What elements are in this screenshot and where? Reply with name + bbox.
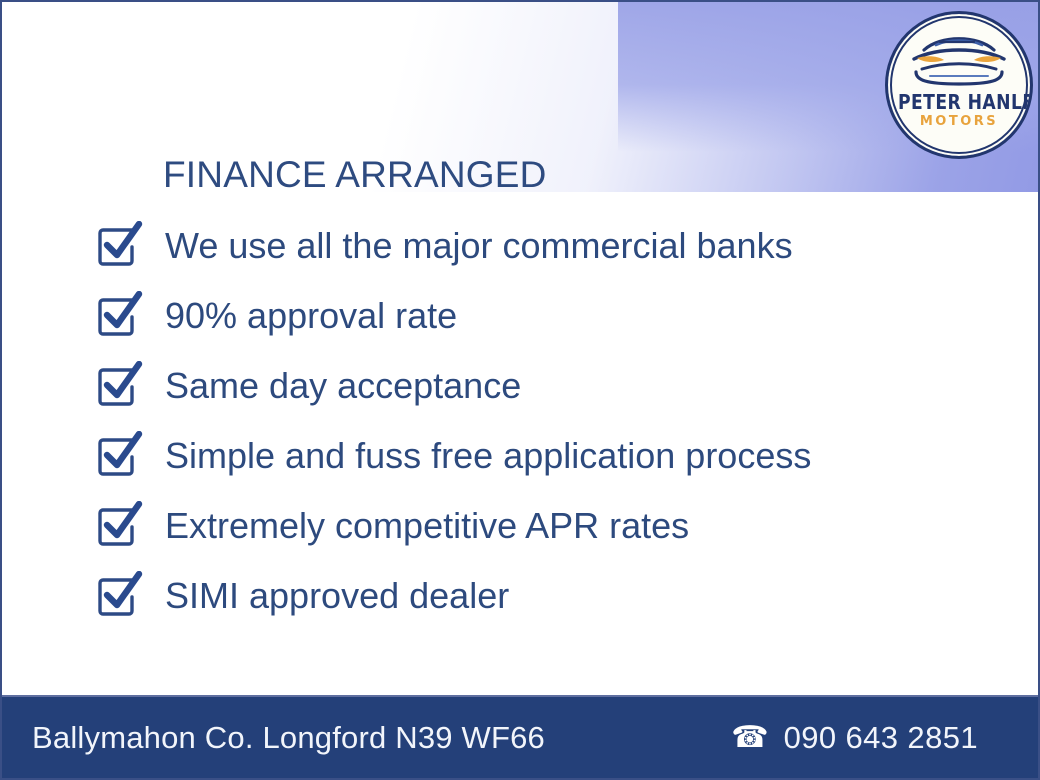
checkbox-checked-icon	[94, 571, 144, 621]
list-item-label: Extremely competitive APR rates	[165, 508, 689, 544]
telephone-icon: ☎	[731, 723, 768, 753]
checkbox-checked-icon	[94, 361, 144, 411]
checkbox-checked-icon	[94, 221, 144, 271]
contact-footer: Ballymahon Co. Longford N39 WF66 ☎ 090 6…	[2, 695, 1038, 778]
phone-number: 090 643 2851	[784, 720, 978, 756]
list-item: Simple and fuss free application process	[94, 421, 974, 491]
feature-list: We use all the major commercial banks 90…	[94, 211, 974, 631]
page-title: FINANCE ARRANGED	[163, 154, 547, 196]
list-item: We use all the major commercial banks	[94, 211, 974, 281]
logo-name: PETER HANLEY	[898, 92, 1020, 112]
dealer-logo: PETER HANLEY MOTORS	[885, 11, 1033, 159]
list-item: Extremely competitive APR rates	[94, 491, 974, 561]
checkbox-checked-icon	[94, 501, 144, 551]
list-item-label: Same day acceptance	[165, 368, 521, 404]
list-item-label: 90% approval rate	[165, 298, 457, 334]
car-front-icon	[900, 28, 1018, 90]
list-item: Same day acceptance	[94, 351, 974, 421]
checkbox-checked-icon	[94, 291, 144, 341]
list-item: SIMI approved dealer	[94, 561, 974, 631]
list-item-label: SIMI approved dealer	[165, 578, 509, 614]
list-item: 90% approval rate	[94, 281, 974, 351]
checkbox-checked-icon	[94, 431, 144, 481]
logo-subtitle: MOTORS	[888, 115, 1030, 128]
phone-contact[interactable]: ☎ 090 643 2851	[731, 720, 978, 756]
dealer-address: Ballymahon Co. Longford N39 WF66	[32, 720, 545, 756]
list-item-label: Simple and fuss free application process	[165, 438, 811, 474]
list-item-label: We use all the major commercial banks	[165, 228, 793, 264]
finance-advert-card: PETER HANLEY MOTORS FINANCE ARRANGED We …	[0, 0, 1040, 780]
